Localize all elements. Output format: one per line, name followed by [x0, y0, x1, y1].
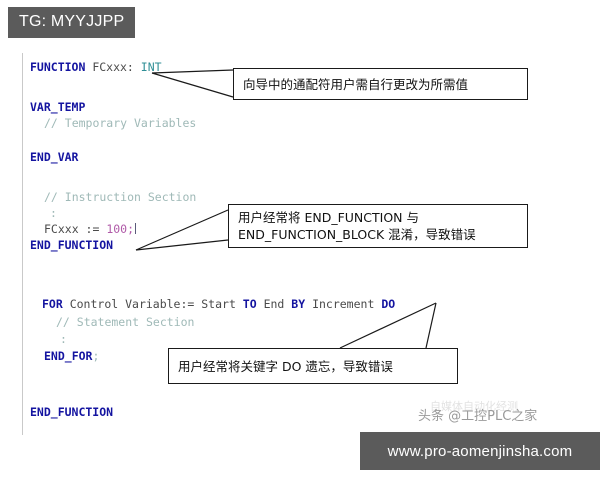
keyword-end-var: END_VAR [30, 150, 78, 164]
keyword-for: FOR [42, 297, 63, 311]
keyword-by: BY [291, 297, 305, 311]
colon-placeholder-1: : [50, 206, 57, 220]
callout-two-line-1: 用户经常将 END_FUNCTION 与 [238, 209, 518, 226]
code-line-end-for: END_FOR; [44, 349, 99, 363]
code-line-end-function-2: END_FUNCTION [30, 405, 113, 419]
comment-statement-section: // Statement Section [56, 315, 194, 329]
keyword-function: FUNCTION [30, 60, 85, 74]
callout-wildcard-note: 向导中的通配符用户需自行更改为所需值 [233, 68, 528, 100]
code-line-end-var: END_VAR [30, 150, 78, 164]
code-line-colon-2: : [60, 332, 67, 346]
code-line-for: FOR Control Variable:= Start TO End BY I… [42, 297, 395, 311]
toutiao-watermark: 头条 @工控PLC之家 [418, 405, 537, 424]
url-watermark-bar: www.pro-aomenjinsha.com [360, 432, 600, 470]
callout-one-line-1: 向导中的通配符用户需自行更改为所需值 [243, 76, 518, 93]
callout-end-function-note: 用户经常将 END_FUNCTION 与 END_FUNCTION_BLOCK … [228, 204, 528, 248]
code-line-function-decl: FUNCTION FCxxx: INT [30, 60, 162, 74]
code-left-rule [22, 53, 23, 435]
function-name: FCxxx: [85, 60, 140, 74]
keyword-do: DO [381, 297, 395, 311]
colon-placeholder-2: : [60, 332, 67, 346]
callout-do-keyword-note: 用户经常将关键字 DO 遗忘，导致错误 [168, 348, 458, 384]
for-end: End [257, 297, 292, 311]
code-line-temp-comment: // Temporary Variables [44, 116, 196, 130]
keyword-end-for: END_FOR [44, 349, 92, 363]
end-for-semicolon: ; [92, 349, 99, 363]
assign-target: FCxxx := [44, 222, 106, 236]
type-int: INT [141, 60, 162, 74]
assign-semicolon: ; [127, 222, 134, 236]
keyword-var-temp: VAR_TEMP [30, 100, 85, 114]
code-line-var-temp: VAR_TEMP [30, 100, 85, 114]
comment-temporary-variables: // Temporary Variables [44, 116, 196, 130]
text-caret [135, 223, 136, 234]
keyword-to: TO [243, 297, 257, 311]
keyword-end-function-2: END_FUNCTION [30, 405, 113, 419]
keyword-end-function-1: END_FUNCTION [30, 238, 113, 252]
code-line-end-function-1: END_FUNCTION [30, 238, 113, 252]
code-line-statement-comment: // Statement Section [56, 315, 194, 329]
for-control-variable: Control Variable:= Start [63, 297, 243, 311]
code-line-colon-1: : [50, 206, 57, 220]
for-increment: Increment [305, 297, 381, 311]
assign-value: 100 [106, 222, 127, 236]
code-line-assignment: FCxxx := 100; [44, 222, 136, 236]
comment-instruction-section: // Instruction Section [44, 190, 196, 204]
callout-three-line-1: 用户经常将关键字 DO 遗忘，导致错误 [178, 358, 448, 375]
code-line-instruction-comment: // Instruction Section [44, 190, 196, 204]
callout-two-line-2: END_FUNCTION_BLOCK 混淆，导致错误 [238, 226, 518, 243]
tg-tag-badge: TG: MYYJJPP [8, 7, 135, 38]
